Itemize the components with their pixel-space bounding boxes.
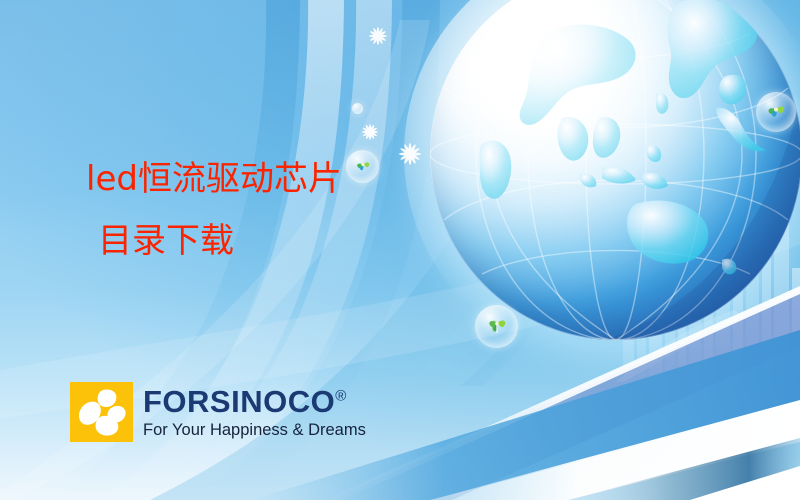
registered-trademark-symbol: ®	[335, 387, 346, 404]
promotional-banner: led恒流驱动芯片 目录下载 FORSINOCO® For Your Happ	[0, 0, 800, 500]
forsinoco-pinwheel-mark-icon	[70, 382, 133, 442]
brand-name: FORSINOCO®	[143, 386, 366, 417]
pinwheel-icon	[482, 309, 512, 344]
headline: led恒流驱动芯片 目录下载	[86, 162, 506, 258]
brand-logo: FORSINOCO® For Your Happiness & Dreams	[70, 382, 366, 442]
brand-tagline: For Your Happiness & Dreams	[143, 422, 366, 439]
bubble-tiny-top	[352, 103, 363, 114]
headline-line-1: led恒流驱动芯片	[86, 162, 506, 196]
pinwheel-icon	[762, 96, 790, 129]
brand-name-text: FORSINOCO	[143, 384, 335, 419]
logo-text-block: FORSINOCO® For Your Happiness & Dreams	[143, 386, 366, 439]
bubble-lower	[475, 305, 518, 348]
headline-line-2: 目录下载	[98, 224, 506, 258]
bubble-right-edge	[756, 92, 796, 132]
